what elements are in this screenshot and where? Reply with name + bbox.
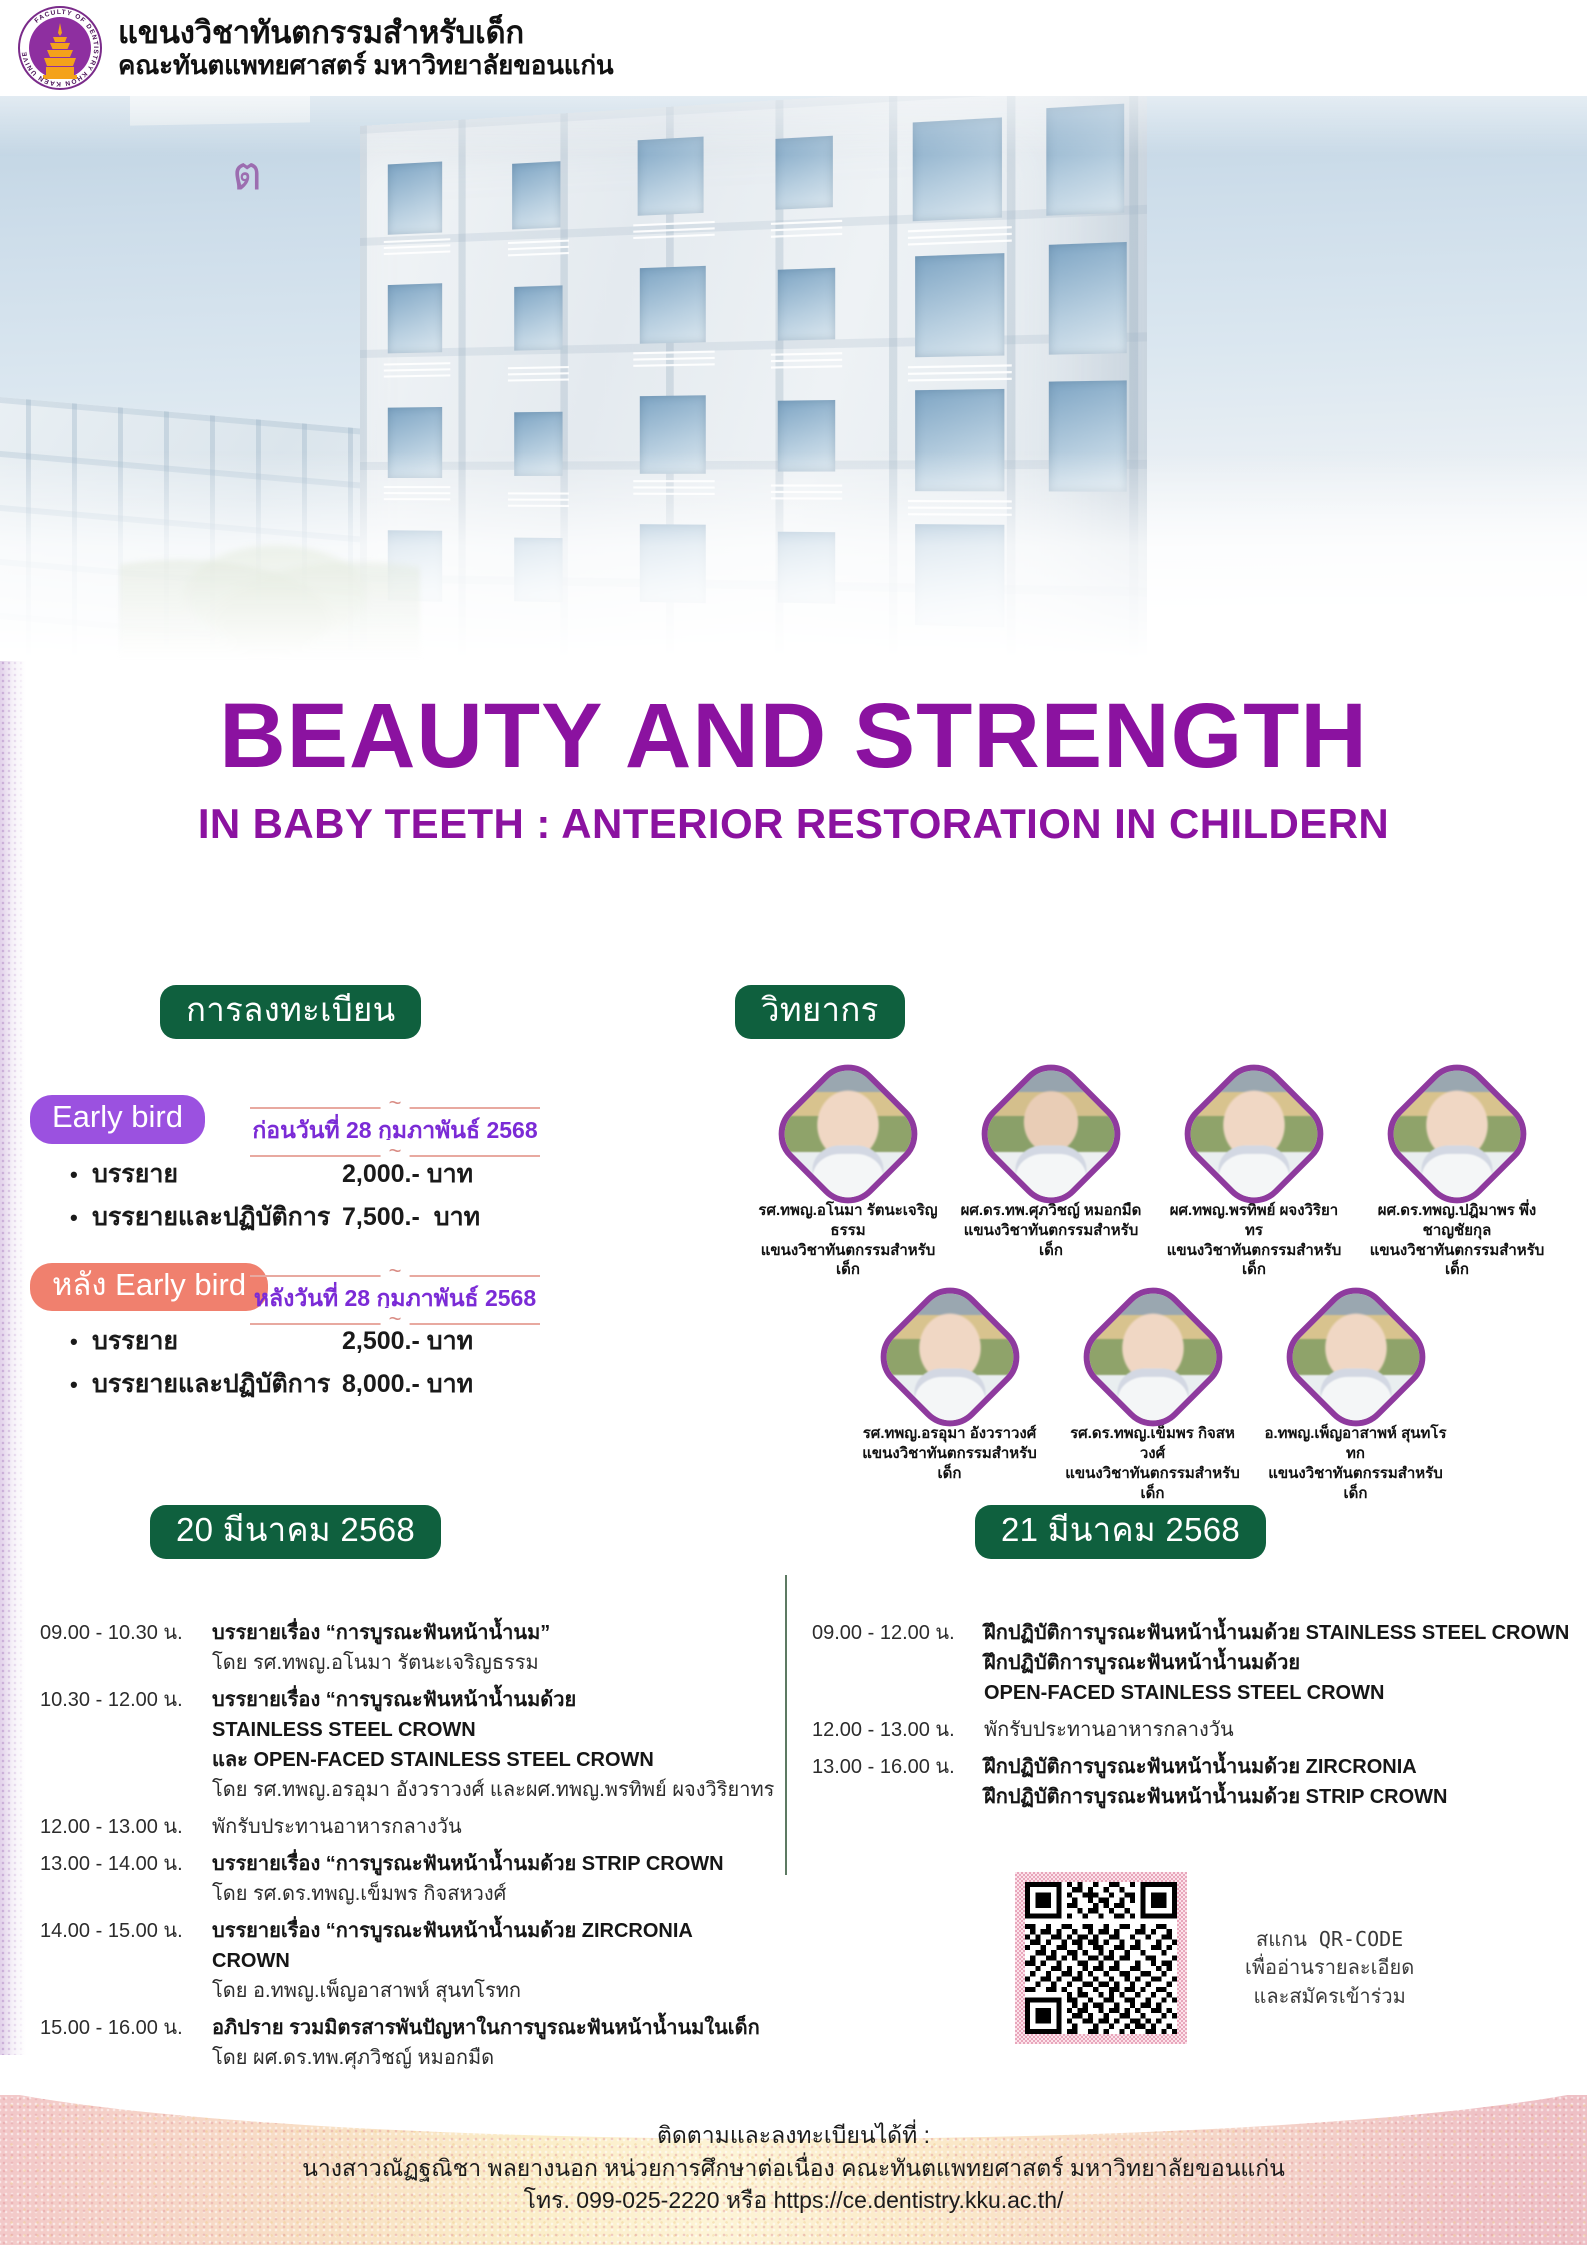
price-value: 7,500.- บาท	[342, 1197, 480, 1237]
slot-line: CROWN	[212, 1946, 780, 1976]
slot-line: ฝึกปฏิบัติการบูรณะฟันหน้าน้ำนมด้วย ZIRCR…	[984, 1752, 1572, 1782]
early-bird-date-note: ก่อนวันที่ 28 กุมภาพันธ์ 2568	[250, 1101, 540, 1161]
slot-time: 09.00 - 12.00 น.	[812, 1618, 984, 1708]
speakers-row-1: รศ.ทพญ.อโนมา รัตนะเจริญธรรม แขนงวิชาทันต…	[740, 1075, 1565, 1280]
speaker-avatar	[968, 1051, 1135, 1218]
slot-line: บรรยายเรื่อง “การบูรณะฟันหน้าน้ำนมด้วย Z…	[212, 1916, 780, 1946]
svg-text:FACULTY OF DENTISTRY: FACULTY OF DENTISTRY	[34, 9, 100, 72]
bullet-icon: •	[70, 1205, 92, 1231]
slot-line: บรรยายเรื่อง “การบูรณะฟันหน้าน้ำนมด้วย S…	[212, 1849, 780, 1879]
slot-line: โดย รศ.ทพญ.อโนมา รัตนะเจริญธรรม	[212, 1648, 780, 1678]
slot-detail: บรรยายเรื่อง “การบูรณะฟันหน้าน้ำนม” โดย …	[212, 1618, 780, 1678]
price-label: บรรยายและปฏิบัติการ	[92, 1364, 342, 1404]
registration-tier-early: Early bird ก่อนวันที่ 28 กุมภาพันธ์ 2568…	[30, 1095, 540, 1237]
bullet-icon: •	[70, 1329, 92, 1355]
schedule-slot: 14.00 - 15.00 น. บรรยายเรื่อง “การบูรณะฟ…	[40, 1916, 780, 2006]
squiggle-divider-top	[250, 1269, 540, 1281]
qr-code-frame	[1015, 1872, 1187, 2044]
slot-line: อภิปราย รวมมิตรสารพันปัญหาในการบูรณะฟันห…	[212, 2013, 780, 2043]
speakers-heading-badge: วิทยากร	[735, 985, 905, 1039]
slot-time: 09.00 - 10.30 น.	[40, 1618, 212, 1678]
schedule-day2-list: 09.00 - 12.00 น. ฝึกปฏิบัติการบูรณะฟันหน…	[812, 1618, 1572, 1819]
speaker-card: ผศ.ดร.ทพ.ศุภวิชญ์ หมอกมืด แขนงวิชาทันตกร…	[959, 1075, 1144, 1280]
slot-time: 14.00 - 15.00 น.	[40, 1916, 212, 2006]
schedule-day2-heading-badge: 21 มีนาคม 2568	[975, 1505, 1266, 1559]
speaker-card: รศ.ดร.ทพญ.เข็มพร กิจสหวงศ์ แขนงวิชาทันตก…	[1060, 1298, 1245, 1503]
slot-line: ฝึกปฏิบัติการบูรณะฟันหน้าน้ำนมด้วย STRIP…	[984, 1782, 1572, 1812]
slot-detail: ฝึกปฏิบัติการบูรณะฟันหน้าน้ำนมด้วย STAIN…	[984, 1618, 1572, 1708]
slot-time: 12.00 - 13.00 น.	[40, 1812, 212, 1842]
registration-heading-label: การลงทะเบียน	[160, 985, 421, 1039]
speakers-heading-label: วิทยากร	[735, 985, 905, 1039]
squiggle-divider-bottom	[250, 1317, 540, 1329]
slot-time: 12.00 - 13.00 น.	[812, 1715, 984, 1745]
slot-line: OPEN-FACED STAINLESS STEEL CROWN	[984, 1678, 1572, 1708]
speaker-avatar	[1069, 1274, 1236, 1441]
late-bird-tag: หลัง Early bird	[30, 1263, 268, 1312]
qr-caption-line-3: และสมัครเข้าร่วม	[1245, 1982, 1414, 2010]
speakers-block: รศ.ทพญ.อโนมา รัตนะเจริญธรรม แขนงวิชาทันต…	[740, 1075, 1565, 1521]
speaker-card: ผศ.ดร.ทพญ.ปฎิมาพร พึ่งชาญชัยกุล แขนงวิชา…	[1365, 1075, 1550, 1280]
price-value: 8,000.- บาท	[342, 1364, 473, 1404]
price-row: • บรรยายและปฏิบัติการ 8,000.- บาท	[70, 1364, 540, 1404]
price-label: บรรยายและปฏิบัติการ	[92, 1197, 342, 1237]
slot-line: พักรับประทานอาหารกลางวัน	[984, 1715, 1572, 1745]
schedule-day1-heading-badge: 20 มีนาคม 2568	[150, 1505, 441, 1559]
schedule-slot: 12.00 - 13.00 น. พักรับประทานอาหารกลางวั…	[812, 1715, 1572, 1745]
header-text-block: แขนงวิชาทันตกรรมสำหรับเด็ก คณะทันตแพทยศา…	[118, 16, 613, 81]
speaker-avatar	[1374, 1051, 1541, 1218]
price-row: • บรรยายและปฏิบัติการ 7,500.- บาท	[70, 1197, 540, 1237]
speaker-card: ผศ.ทพญ.พรทิพย์ ผจงวิริยาทร แขนงวิชาทันตก…	[1162, 1075, 1347, 1280]
poster-footer: ติดตามและลงทะเบียนได้ที่ : นางสาวณัฏฐณิช…	[0, 2095, 1587, 2245]
slot-line: โดย อ.ทพญ.เพ็ญอาสาพห์ สุนทโรทก	[212, 1976, 780, 2006]
header-line-2: คณะทันตแพทยศาสตร์ มหาวิทยาลัยขอนแก่น	[118, 51, 613, 80]
speaker-card: รศ.ทพญ.อรอุมา อังวราวงศ์ แขนงวิชาทันตกรร…	[857, 1298, 1042, 1503]
poster-header: FACULTY OF DENTISTRY KHON KAEN UNIVERSIT…	[0, 0, 1587, 96]
hero-building-photo: ต	[0, 96, 1587, 661]
slot-detail: บรรยายเรื่อง “การบูรณะฟันหน้าน้ำนมด้วย Z…	[212, 1916, 780, 2006]
slot-detail: พักรับประทานอาหารกลางวัน	[212, 1812, 780, 1842]
schedule-slot: 15.00 - 16.00 น. อภิปราย รวมมิตรสารพันปั…	[40, 2013, 780, 2073]
qr-caption: สแกน QR-CODE เพื่ออ่านรายละเอียด และสมัค…	[1245, 1925, 1414, 2010]
footer-text-block: ติดตามและลงทะเบียนได้ที่ : นางสาวณัฏฐณิช…	[0, 2119, 1587, 2217]
poster-title-subtitle: IN BABY TEETH : ANTERIOR RESTORATION IN …	[0, 800, 1587, 848]
slot-line: ฝึกปฏิบัติการบูรณะฟันหน้าน้ำนมด้วย STAIN…	[984, 1618, 1572, 1648]
schedule-day2-heading-label: 21 มีนาคม 2568	[975, 1505, 1266, 1559]
speaker-card: อ.ทพญ.เพ็ญอาสาพห์ สุนทโรทก แขนงวิชาทันตก…	[1263, 1298, 1448, 1503]
schedule-slot: 10.30 - 12.00 น. บรรยายเรื่อง “การบูรณะฟ…	[40, 1685, 780, 1805]
slot-line: ฝึกปฏิบัติการบูรณะฟันหน้าน้ำนมด้วย	[984, 1648, 1572, 1678]
speaker-dept: แขนงวิชาทันตกรรมสำหรับเด็ก	[1162, 1241, 1347, 1281]
speaker-avatar	[866, 1274, 1033, 1441]
slot-time: 13.00 - 16.00 น.	[812, 1752, 984, 1812]
speaker-avatar	[1272, 1274, 1439, 1441]
schedule-day1-heading-label: 20 มีนาคม 2568	[150, 1505, 441, 1559]
speaker-avatar	[1171, 1051, 1338, 1218]
speaker-dept: แขนงวิชาทันตกรรมสำหรับเด็ก	[756, 1241, 941, 1281]
slot-detail: พักรับประทานอาหารกลางวัน	[984, 1715, 1572, 1745]
slot-time: 10.30 - 12.00 น.	[40, 1685, 212, 1805]
schedule-vertical-divider	[785, 1575, 787, 1875]
slot-line: STAINLESS STEEL CROWN	[212, 1715, 780, 1745]
registration-tier-late: หลัง Early bird หลังวันที่ 28 กุมภาพันธ์…	[30, 1263, 540, 1405]
slot-line: พักรับประทานอาหารกลางวัน	[212, 1812, 780, 1842]
qr-caption-line-1: สแกน QR-CODE	[1245, 1925, 1414, 1953]
kku-watermark-icon: ต	[232, 150, 274, 202]
slot-detail: บรรยายเรื่อง “การบูรณะฟันหน้าน้ำนมด้วย S…	[212, 1685, 780, 1805]
poster-title-block: BEAUTY AND STRENGTH IN BABY TEETH : ANTE…	[0, 690, 1587, 848]
slot-line: บรรยายเรื่อง “การบูรณะฟันหน้าน้ำนม”	[212, 1618, 780, 1648]
schedule-day1-list: 09.00 - 10.30 น. บรรยายเรื่อง “การบูรณะฟ…	[40, 1618, 780, 2080]
poster-title-main: BEAUTY AND STRENGTH	[0, 690, 1587, 782]
slot-detail: อภิปราย รวมมิตรสารพันปัญหาในการบูรณะฟันห…	[212, 2013, 780, 2073]
registration-block: Early bird ก่อนวันที่ 28 กุมภาพันธ์ 2568…	[30, 1095, 540, 1414]
logo-ring-text: FACULTY OF DENTISTRY KHON KAEN UNIVERSIT…	[18, 6, 102, 90]
schedule-slot: 13.00 - 14.00 น. บรรยายเรื่อง “การบูรณะฟ…	[40, 1849, 780, 1909]
squiggle-divider-bottom	[250, 1149, 540, 1161]
qr-code[interactable]	[1025, 1882, 1177, 2034]
slot-detail: บรรยายเรื่อง “การบูรณะฟันหน้าน้ำนมด้วย S…	[212, 1849, 780, 1909]
speaker-dept: แขนงวิชาทันตกรรมสำหรับเด็ก	[1263, 1464, 1448, 1504]
early-bird-tag: Early bird	[30, 1095, 205, 1144]
late-bird-date-note: หลังวันที่ 28 กุมภาพันธ์ 2568	[250, 1269, 540, 1329]
footer-line-3: โทร. 099-025-2220 หรือ https://ce.dentis…	[0, 2184, 1587, 2217]
schedule-slot: 09.00 - 10.30 น. บรรยายเรื่อง “การบูรณะฟ…	[40, 1618, 780, 1678]
late-bird-price-list: • บรรยาย 2,500.- บาท • บรรยายและปฏิบัติก…	[70, 1321, 540, 1404]
slot-line: บรรยายเรื่อง “การบูรณะฟันหน้าน้ำนมด้วย	[212, 1685, 780, 1715]
footer-line-2: นางสาวณัฏฐณิชา พลยางนอก หน่วยการศึกษาต่อ…	[0, 2152, 1587, 2185]
bullet-icon: •	[70, 1372, 92, 1398]
registration-heading-badge: การลงทะเบียน	[160, 985, 421, 1039]
speaker-avatar	[765, 1051, 932, 1218]
kku-dentistry-logo-icon: FACULTY OF DENTISTRY KHON KAEN UNIVERSIT…	[18, 6, 102, 90]
schedule-slot: 12.00 - 13.00 น. พักรับประทานอาหารกลางวั…	[40, 1812, 780, 1842]
slot-time: 15.00 - 16.00 น.	[40, 2013, 212, 2073]
slot-line: โดย ผศ.ดร.ทพ.ศุภวิชญ์ หมอกมืด	[212, 2043, 780, 2073]
slot-time: 13.00 - 14.00 น.	[40, 1849, 212, 1909]
slot-line: โดย รศ.ทพญ.อรอุมา อังวราวงศ์ และผศ.ทพญ.พ…	[212, 1775, 780, 1805]
speakers-row-2: รศ.ทพญ.อรอุมา อังวราวงศ์ แขนงวิชาทันตกรร…	[740, 1298, 1565, 1503]
speaker-dept: แขนงวิชาทันตกรรมสำหรับเด็ก	[959, 1221, 1144, 1261]
speaker-dept: แขนงวิชาทันตกรรมสำหรับเด็ก	[1060, 1464, 1245, 1504]
speaker-dept: แขนงวิชาทันตกรรมสำหรับเด็ก	[1365, 1241, 1550, 1281]
slot-line: และ OPEN-FACED STAINLESS STEEL CROWN	[212, 1745, 780, 1775]
poster-root: FACULTY OF DENTISTRY KHON KAEN UNIVERSIT…	[0, 0, 1587, 2245]
slot-line: โดย รศ.ดร.ทพญ.เข็มพร กิจสหวงศ์	[212, 1879, 780, 1909]
footer-line-1: ติดตามและลงทะเบียนได้ที่ :	[0, 2119, 1587, 2152]
header-line-1: แขนงวิชาทันตกรรมสำหรับเด็ก	[118, 16, 613, 51]
speaker-dept: แขนงวิชาทันตกรรมสำหรับเด็ก	[857, 1444, 1042, 1484]
early-bird-price-list: • บรรยาย 2,000.- บาท • บรรยายและปฏิบัติก…	[70, 1154, 540, 1237]
schedule-slot: 13.00 - 16.00 น. ฝึกปฏิบัติการบูรณะฟันหน…	[812, 1752, 1572, 1812]
squiggle-divider-top	[250, 1101, 540, 1113]
slot-detail: ฝึกปฏิบัติการบูรณะฟันหน้าน้ำนมด้วย ZIRCR…	[984, 1752, 1572, 1812]
bullet-icon: •	[70, 1162, 92, 1188]
speaker-card: รศ.ทพญ.อโนมา รัตนะเจริญธรรม แขนงวิชาทันต…	[756, 1075, 941, 1280]
schedule-slot: 09.00 - 12.00 น. ฝึกปฏิบัติการบูรณะฟันหน…	[812, 1618, 1572, 1708]
qr-caption-line-2: เพื่ออ่านรายละเอียด	[1245, 1953, 1414, 1981]
